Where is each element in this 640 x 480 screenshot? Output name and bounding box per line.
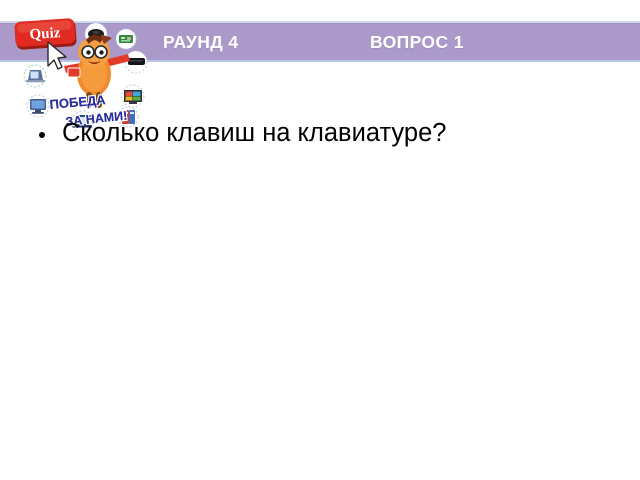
slide-canvas: РАУНД 4 ВОПРОС 1 bbox=[0, 0, 640, 480]
display-icon bbox=[122, 85, 144, 107]
header-bar: РАУНД 4 ВОПРОС 1 bbox=[0, 21, 640, 62]
question-label: ВОПРОС 1 bbox=[370, 34, 464, 52]
round-label: РАУНД 4 bbox=[163, 34, 239, 52]
laptop-icon bbox=[24, 65, 46, 87]
bullet-item: Сколько клавиш на клавиатуре? bbox=[30, 118, 610, 150]
header-bar-fill bbox=[0, 23, 640, 60]
question-body: Сколько клавиш на клавиатуре? bbox=[30, 118, 610, 150]
question-text: Сколько клавиш на клавиатуре? bbox=[62, 118, 610, 150]
bullet-dot-icon bbox=[39, 132, 45, 138]
monitor-icon bbox=[27, 95, 49, 117]
svg-text:ПОБЕДА: ПОБЕДА bbox=[49, 92, 107, 112]
svg-text:ПОБЕДА: ПОБЕДА bbox=[49, 92, 107, 112]
